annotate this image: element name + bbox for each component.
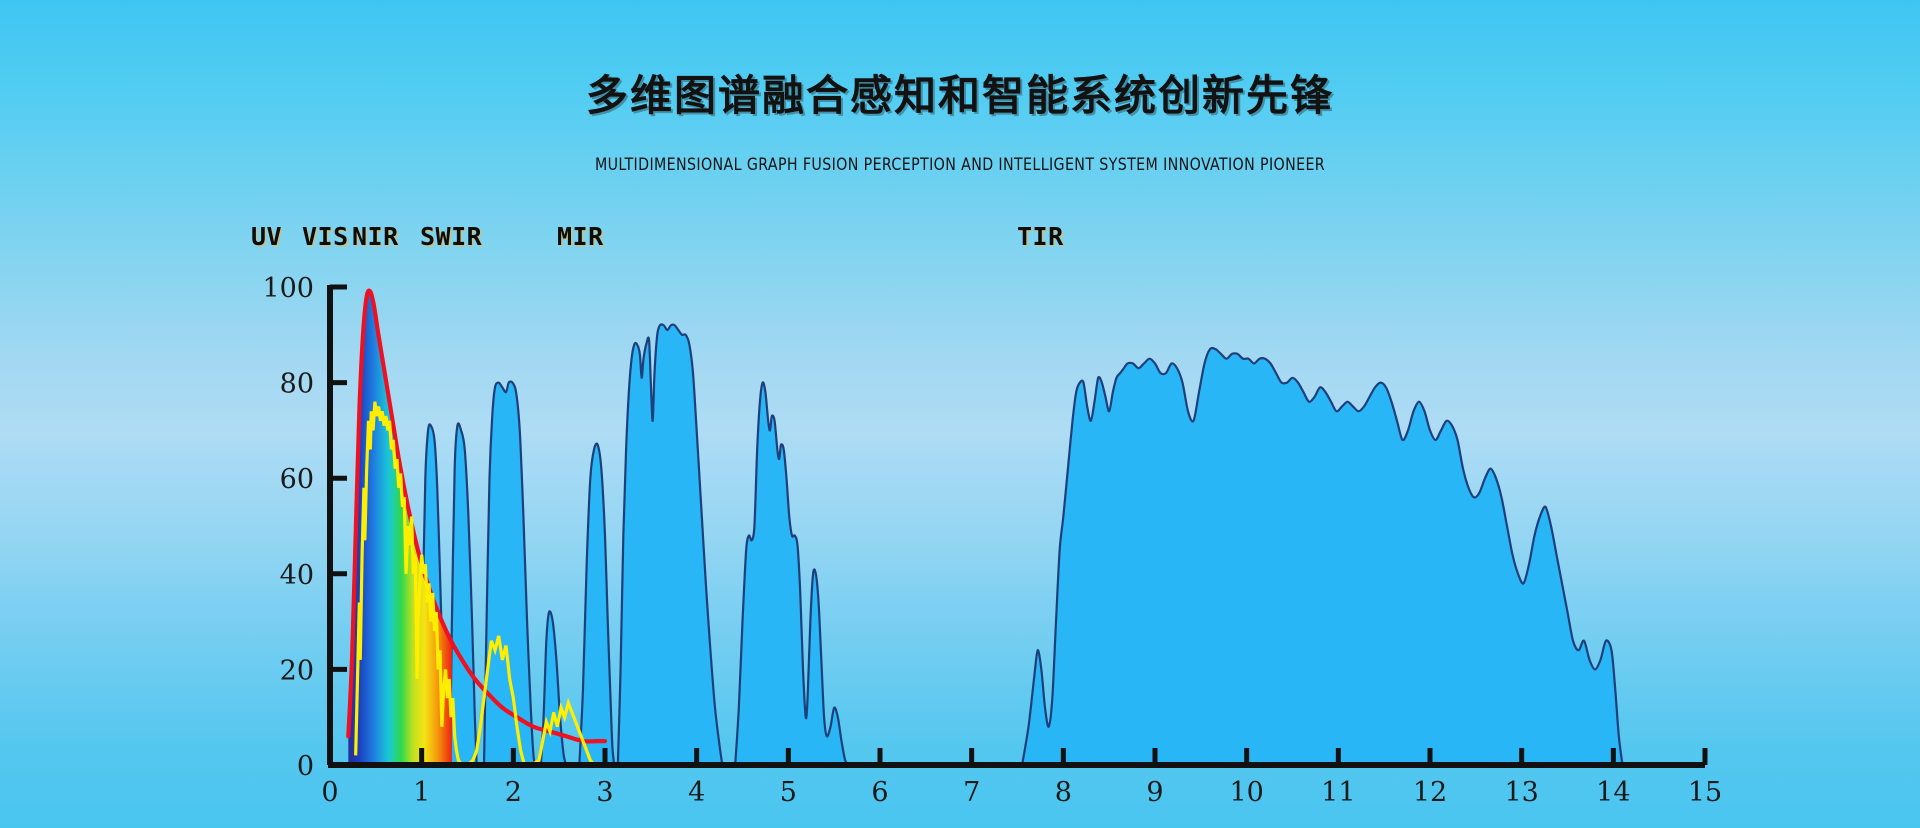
x-tick-label: 13 bbox=[1504, 777, 1538, 808]
x-tick-label: 15 bbox=[1688, 777, 1722, 808]
y-tick-label: 60 bbox=[280, 464, 314, 495]
x-tick-label: 2 bbox=[505, 777, 522, 808]
x-tick-label: 7 bbox=[963, 777, 980, 808]
y-tick-label: 40 bbox=[280, 560, 314, 591]
visible-spectrum-gradient bbox=[347, 0, 452, 828]
atmospheric-transmission-area bbox=[352, 324, 1623, 765]
x-tick-label: 9 bbox=[1146, 777, 1163, 808]
x-tick-label: 5 bbox=[780, 777, 797, 808]
x-tick-label: 10 bbox=[1229, 777, 1263, 808]
x-tick-label: 1 bbox=[413, 777, 430, 808]
x-tick-label: 8 bbox=[1055, 777, 1072, 808]
x-tick-label: 11 bbox=[1321, 777, 1355, 808]
y-tick-label: 0 bbox=[297, 751, 314, 782]
y-tick-label: 100 bbox=[262, 273, 314, 304]
y-tick-label: 80 bbox=[280, 369, 314, 400]
y-tick-label: 20 bbox=[280, 655, 314, 686]
poster-canvas: 多维图谱融合感知和智能系统创新先锋 MULTIDIMENSIONAL GRAPH… bbox=[0, 0, 1920, 828]
x-tick-label: 6 bbox=[871, 777, 888, 808]
x-tick-label: 3 bbox=[596, 777, 613, 808]
spectral-chart: 0123456789101112131415020406080100 bbox=[0, 0, 1920, 828]
x-tick-label: 14 bbox=[1596, 777, 1630, 808]
x-tick-label: 4 bbox=[688, 777, 705, 808]
x-tick-label: 0 bbox=[321, 777, 338, 808]
x-tick-label: 12 bbox=[1413, 777, 1447, 808]
